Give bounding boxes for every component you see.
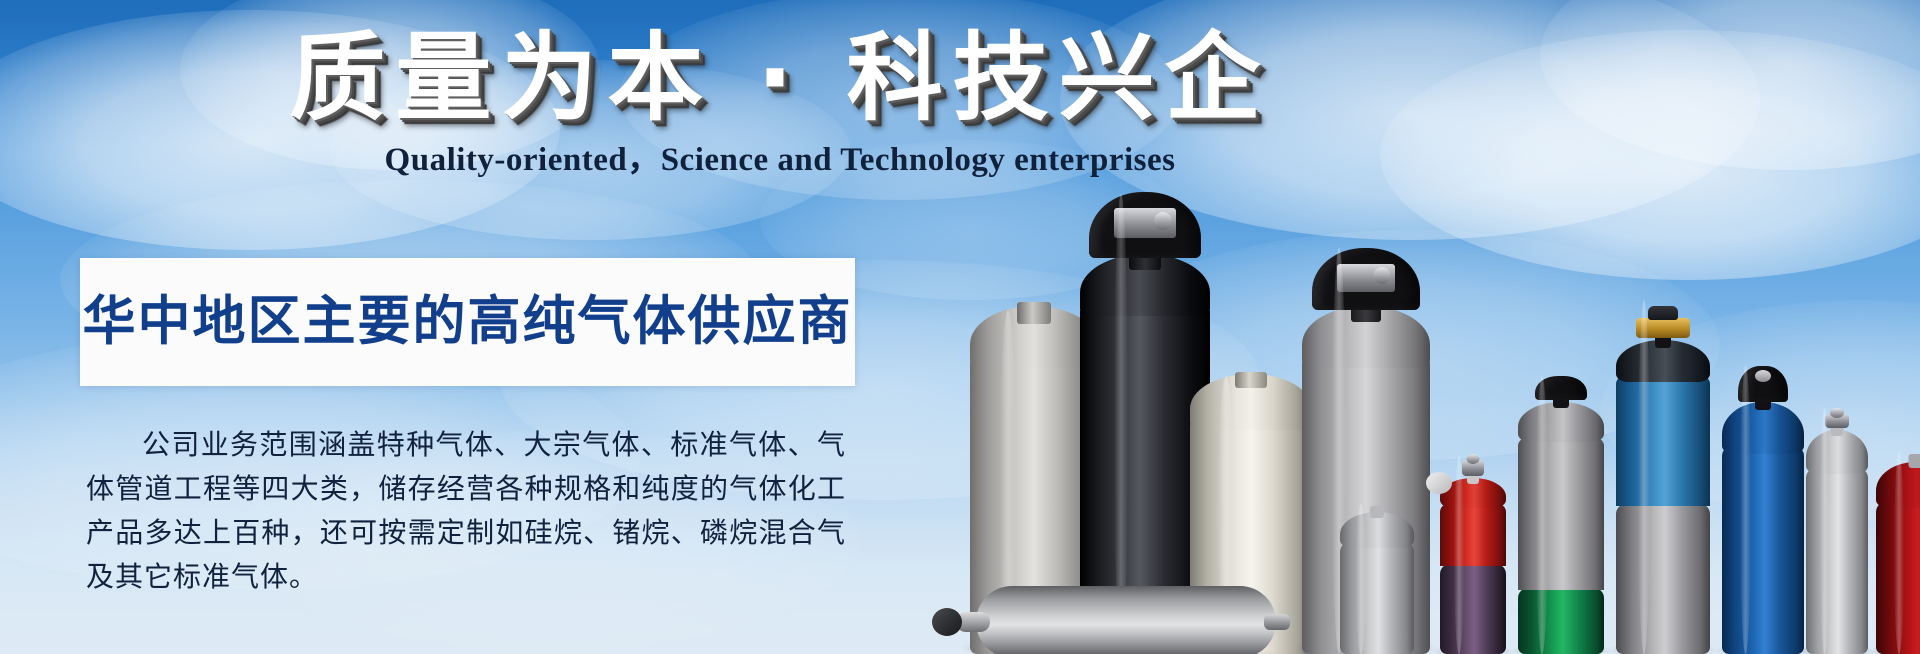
cylinder-blue-steel	[1616, 300, 1710, 654]
cylinder-aluminium-short	[1340, 504, 1414, 654]
banner-subtitle: Quality-oriented，Science and Technology …	[0, 140, 1560, 180]
cylinder-green-base	[1518, 376, 1604, 654]
hero-banner: 质量为本 · 科技兴企 Quality-oriented，Science and…	[0, 0, 1920, 654]
banner-paragraph: 公司业务范围涵盖特种气体、大宗气体、标准气体、气体管道工程等四大类，储存经营各种…	[86, 424, 846, 600]
cylinder-red-small	[1440, 456, 1506, 654]
cylinder-aluminium-slim	[1806, 408, 1868, 654]
cylinder-blue-tall	[1722, 366, 1804, 654]
cylinder-dark-red	[1876, 452, 1920, 654]
gas-cylinder-group	[930, 150, 1920, 654]
pressure-gauge-icon	[1426, 472, 1452, 494]
highlight-box-text: 华中地区主要的高纯气体供应商	[83, 292, 853, 352]
highlight-box: 华中地区主要的高纯气体供应商	[80, 258, 855, 386]
banner-headline: 质量为本 · 科技兴企	[0, 24, 1560, 132]
tank-horizontal-grey	[976, 572, 1276, 654]
brass-valve-icon	[1636, 318, 1690, 338]
